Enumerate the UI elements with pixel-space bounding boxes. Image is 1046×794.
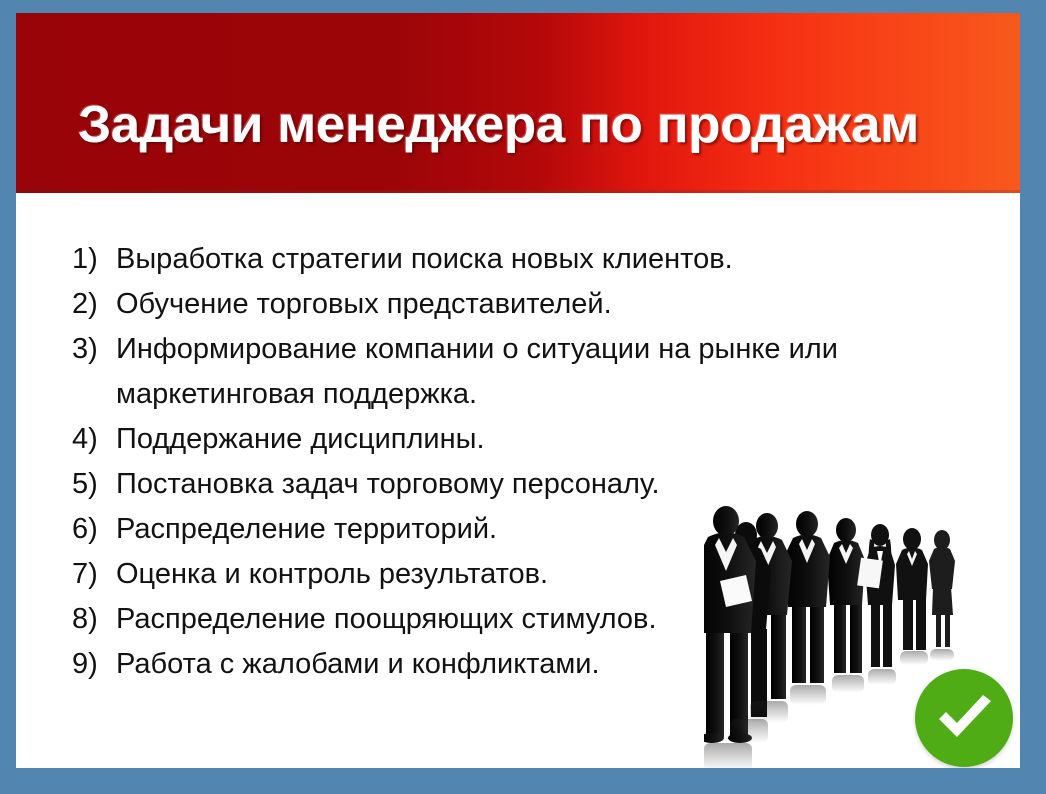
list-item-number: 7) <box>72 552 116 597</box>
list-item-number: 1) <box>72 237 116 282</box>
page-title: Задачи менеджера по продажам <box>78 95 919 155</box>
title-banner: Задачи менеджера по продажам <box>16 13 1020 193</box>
check-icon <box>935 695 995 743</box>
list-item-number: 4) <box>72 417 116 462</box>
list-item-label: Обучение торговых представителей. <box>116 282 932 327</box>
list-item: 4) Поддержание дисциплины. <box>72 417 932 462</box>
list-item: 2) Обучение торговых представителей. <box>72 282 932 327</box>
list-item: 1) Выработка стратегии поиска новых клие… <box>72 237 932 282</box>
list-item-number: 3) <box>72 327 116 372</box>
list-item: 3) Информирование компании о ситуации на… <box>72 327 932 417</box>
list-item-number: 6) <box>72 507 116 552</box>
list-item-label: Поддержание дисциплины. <box>116 417 932 462</box>
list-item-number: 9) <box>72 642 116 687</box>
list-item-number: 8) <box>72 597 116 642</box>
green-check-badge <box>915 669 1013 767</box>
list-item-label: Выработка стратегии поиска новых клиенто… <box>116 237 932 282</box>
list-item-number: 5) <box>72 462 116 507</box>
list-item-label: Информирование компании о ситуации на ры… <box>116 327 906 417</box>
list-item-number: 2) <box>72 282 116 327</box>
slide-white-card: Задачи менеджера по продажам 1) Выработк… <box>16 13 1020 768</box>
slide-root: Задачи менеджера по продажам 1) Выработк… <box>0 0 1046 794</box>
